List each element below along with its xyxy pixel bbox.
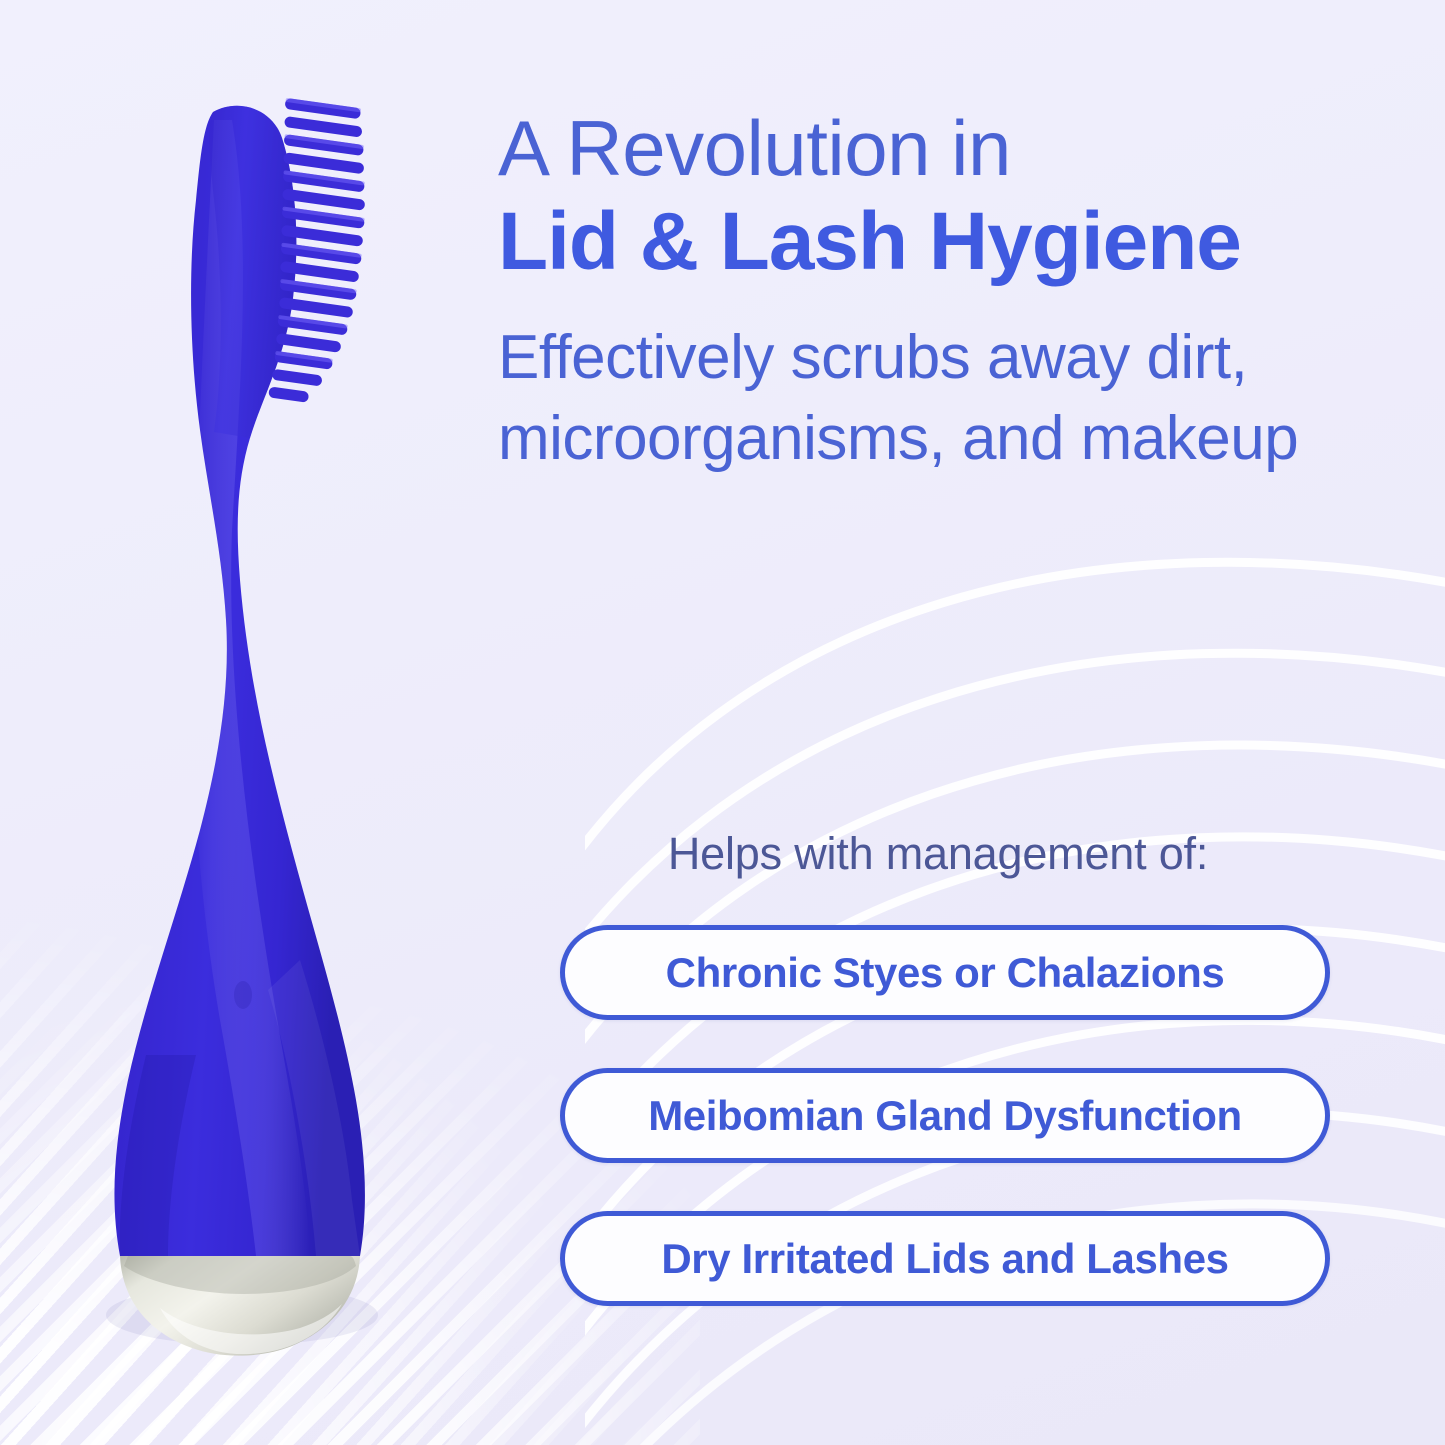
condition-pill-label: Dry Irritated Lids and Lashes xyxy=(661,1235,1228,1283)
headline-line-1: A Revolution in xyxy=(498,108,1378,189)
condition-pill-dry-irritated-lids[interactable]: Dry Irritated Lids and Lashes xyxy=(560,1211,1330,1306)
condition-pill-meibomian-gland-dysfunction[interactable]: Meibomian Gland Dysfunction xyxy=(560,1068,1330,1163)
product-ad-canvas: A Revolution in Lid & Lash Hygiene Effec… xyxy=(0,0,1445,1445)
subheadline-text: Effectively scrubs away dirt, microorgan… xyxy=(498,318,1358,479)
page-title: A Revolution in Lid & Lash Hygiene xyxy=(498,108,1378,284)
helps-section: Helps with management of: xyxy=(498,828,1378,880)
headline-block: A Revolution in Lid & Lash Hygiene Effec… xyxy=(498,108,1378,480)
helps-label: Helps with management of: xyxy=(498,828,1378,880)
condition-pill-chronic-styes[interactable]: Chronic Styes or Chalazions xyxy=(560,925,1330,1020)
condition-pill-label: Chronic Styes or Chalazions xyxy=(666,949,1225,997)
condition-pill-label: Meibomian Gland Dysfunction xyxy=(648,1092,1242,1140)
product-image-eyelid-brush xyxy=(0,60,470,1390)
condition-pill-list: Chronic Styes or Chalazions Meibomian Gl… xyxy=(560,925,1330,1306)
headline-line-2: Lid & Lash Hygiene xyxy=(498,199,1378,284)
